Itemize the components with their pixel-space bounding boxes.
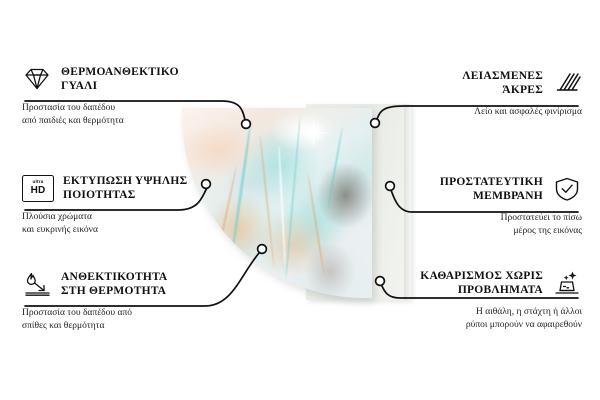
feature-high-quality-print[interactable]: ultra HD ΕΚΤΥΠΩΣΗ ΥΨΗΛΗΣ ΠΟΙΟΤΗΤΑΣ Πλούσ… (22, 171, 228, 236)
feature-title: ΑΝΘΕΚΤΙΚΟΤΗΤΑ ΣΤΗ ΘΕΡΜΟΤΗΤΑ (61, 270, 167, 299)
feature-protective-membrane[interactable]: ΠΡΟΣΤΑΤΕΥΤΙΚΗ ΜΕΜΒΡΑΝΗ Προστατεύει το πί… (376, 172, 582, 237)
feature-header: ultra HD ΕΚΤΥΠΩΣΗ ΥΨΗΛΗΣ ΠΟΙΟΤΗΤΑΣ (22, 171, 228, 205)
feature-header: ΑΝΘΕΚΤΙΚΟΤΗΤΑ ΣΤΗ ΘΕΡΜΟΤΗΤΑ (22, 267, 228, 301)
easy-cleaning-sparkle-icon (552, 270, 582, 296)
feature-header: ΛΕΙΑΣΜΕΝΕΣ ΆΚΡΕΣ (376, 66, 582, 100)
feature-description: Πλούσια χρώματα και ευκρινής εικόνα (22, 211, 228, 236)
feature-title: ΚΑΘΑΡΙΣΜΟΣ ΧΩΡΙΣ ΠΡΟΒΛΗΜΑΤΑ (420, 269, 543, 298)
feature-title: ΠΡΟΣΤΑΤΕΥΤΙΚΗ ΜΕΜΒΡΑΝΗ (440, 175, 543, 204)
glass-shine-icon (301, 120, 327, 146)
feature-title: ΘΕΡΜΟΑΝΘΕΚΤΙΚΟ ΓΥΑΛΙ (61, 65, 179, 94)
feature-description: Λείο και ασφαλές φινίρισμα (376, 106, 582, 119)
feature-title: ΕΚΤΥΠΩΣΗ ΥΨΗΛΗΣ ΠΟΙΟΤΗΤΑΣ (63, 174, 187, 203)
feature-description: Προστασία του δαπέδου από παιδιές και θε… (22, 102, 228, 127)
feature-header: ΠΡΟΣΤΑΤΕΥΤΙΚΗ ΜΕΜΒΡΑΝΗ (376, 172, 582, 206)
feature-polished-edges[interactable]: ΛΕΙΑΣΜΕΝΕΣ ΆΚΡΕΣ Λείο και ασφαλές φινίρι… (376, 66, 582, 119)
feature-easy-cleaning[interactable]: ΚΑΘΑΡΙΣΜΟΣ ΧΩΡΙΣ ΠΡΟΒΛΗΜΑΤΑ Η αιθάλη, η … (376, 266, 582, 331)
feature-title: ΛΕΙΑΣΜΕΝΕΣ ΆΚΡΕΣ (462, 69, 543, 98)
shield-check-icon (552, 176, 582, 202)
feature-heat-resistance[interactable]: ΑΝΘΕΚΤΙΚΟΤΗΤΑ ΣΤΗ ΘΕΡΜΟΤΗΤΑ Προστασία το… (22, 267, 228, 332)
feature-heat-resistant-glass[interactable]: ΘΕΡΜΟΑΝΘΕΚΤΙΚΟ ΓΥΑΛΙ Προστασία του δαπέδ… (22, 62, 228, 127)
feature-header: ΚΑΘΑΡΙΣΜΟΣ ΧΩΡΙΣ ΠΡΟΒΛΗΜΑΤΑ (376, 266, 582, 300)
feature-description: Προστατεύει το πίσω μέρος της εικόνας (376, 212, 582, 237)
infographic-canvas: ΘΕΡΜΟΑΝΘΕΚΤΙΚΟ ΓΥΑΛΙ Προστασία του δαπέδ… (0, 0, 600, 400)
diamond-icon (22, 66, 52, 92)
feature-description: Προστασία του δαπέδου από σπίθες και θερ… (22, 307, 228, 332)
flame-heat-resistance-icon (22, 271, 52, 297)
feature-header: ΘΕΡΜΟΑΝΘΕΚΤΙΚΟ ΓΥΑΛΙ (22, 62, 228, 96)
polished-edges-icon (552, 70, 582, 96)
feature-description: Η αιθάλη, η στάχτη ή άλλοι ρύποι μπορούν… (376, 306, 582, 331)
ultra-hd-icon: ultra HD (22, 175, 54, 202)
